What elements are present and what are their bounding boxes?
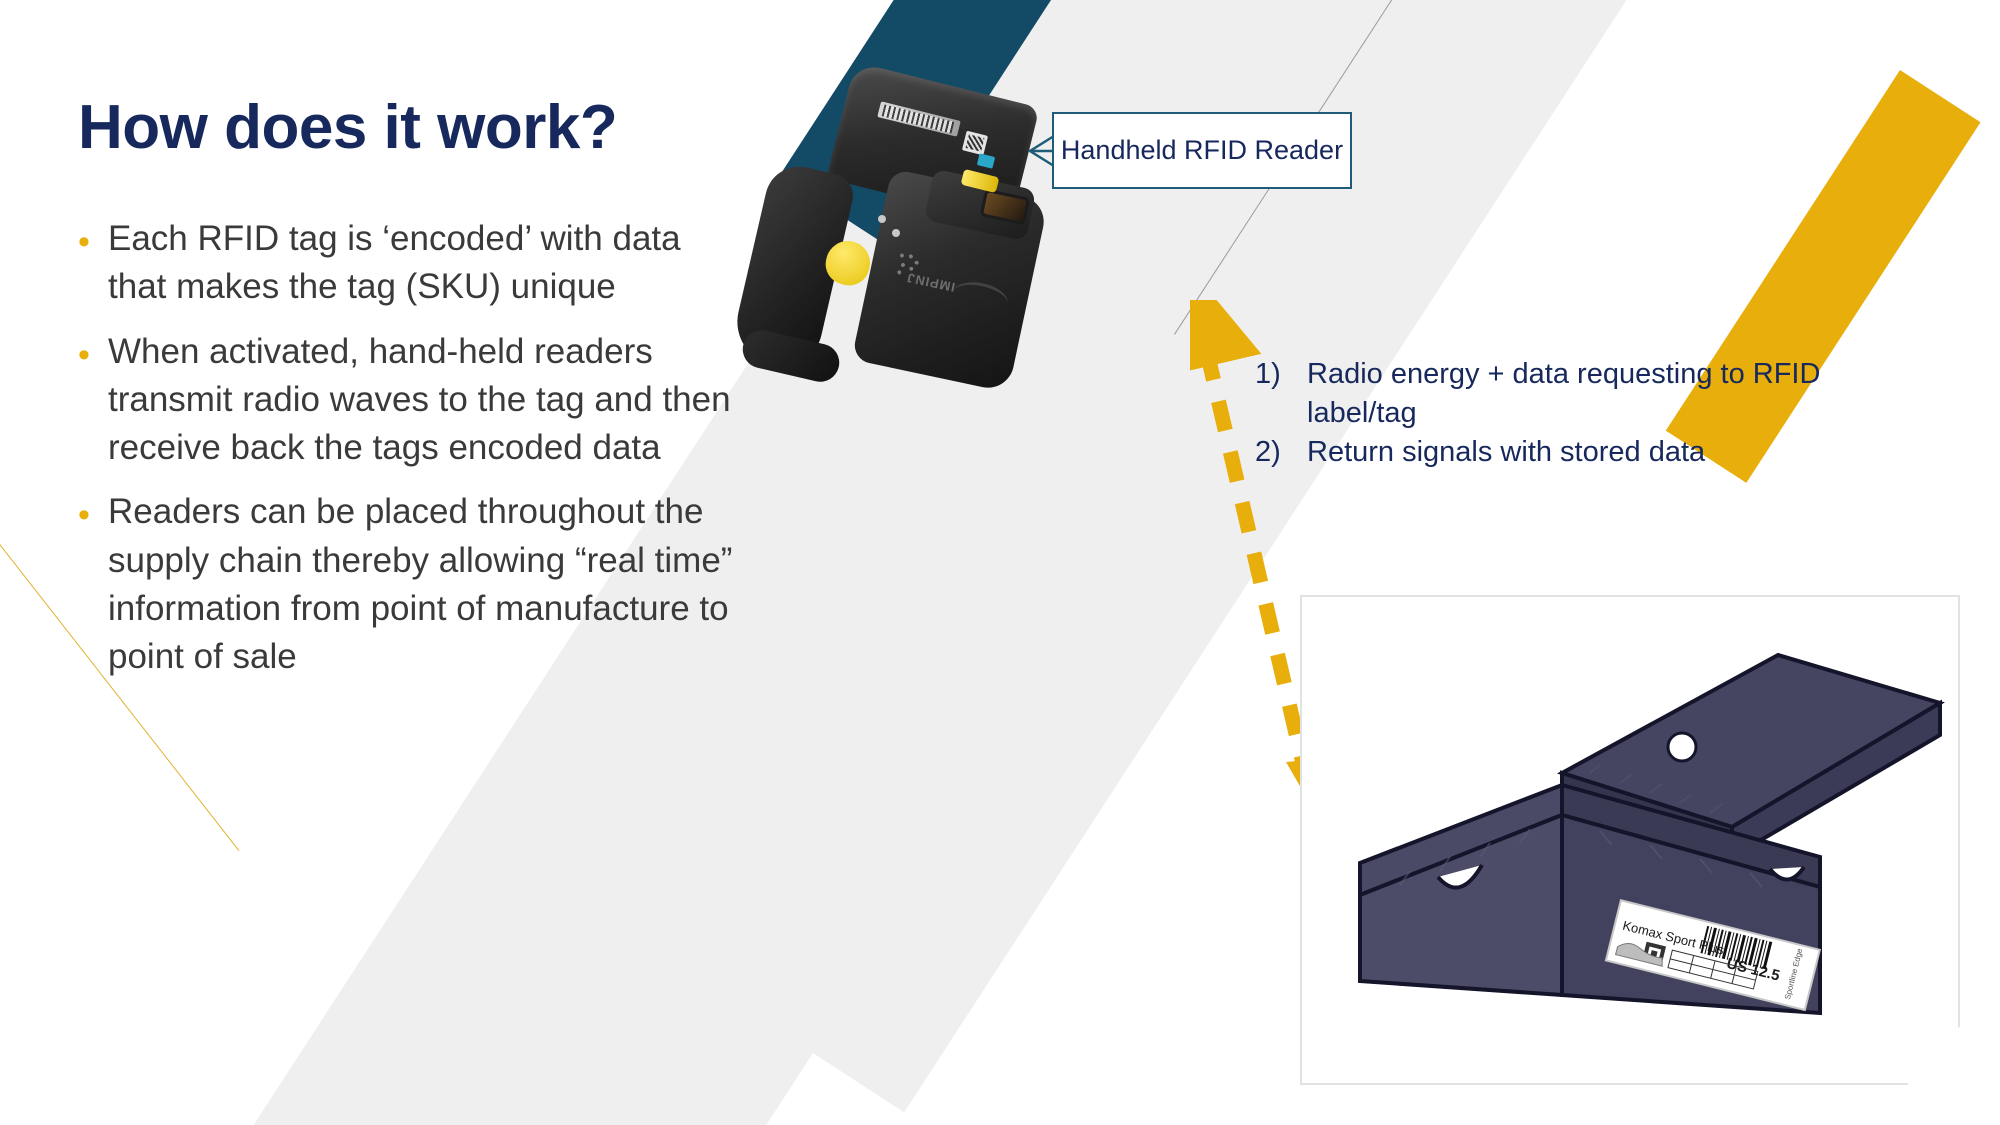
list-item: • Each RFID tag is ‘encoded’ with data t… <box>78 215 738 312</box>
callout-box-handheld-reader: Handheld RFID Reader <box>1052 112 1352 189</box>
page-title: How does it work? <box>78 92 617 163</box>
list-item: • When activated, hand-held readers tran… <box>78 328 738 473</box>
bullet-dot-icon: • <box>78 225 108 259</box>
callout-label: Handheld RFID Reader <box>1061 135 1343 166</box>
bullet-text: When activated, hand-held readers transm… <box>108 328 738 473</box>
shoe-box-drawing: Komax Sport Plus US 12.5 <box>1300 595 1960 1085</box>
bullet-list: • Each RFID tag is ‘encoded’ with data t… <box>78 215 738 698</box>
shoe-box-image: Komax Sport Plus US 12.5 <box>1300 595 1960 1085</box>
reader-led-indicators <box>878 215 886 223</box>
bullet-dot-icon: • <box>78 498 108 532</box>
list-item: • Readers can be placed throughout the s… <box>78 488 738 681</box>
bullet-dot-icon: • <box>78 338 108 372</box>
callout-arrow-icon <box>1000 132 1056 170</box>
bullet-text: Each RFID tag is ‘encoded’ with data tha… <box>108 215 738 312</box>
handheld-rfid-reader-image: IMPINJ <box>730 75 1040 385</box>
slide-canvas: How does it work? • Each RFID tag is ‘en… <box>0 0 2000 1125</box>
bullet-text: Readers can be placed throughout the sup… <box>108 488 738 681</box>
